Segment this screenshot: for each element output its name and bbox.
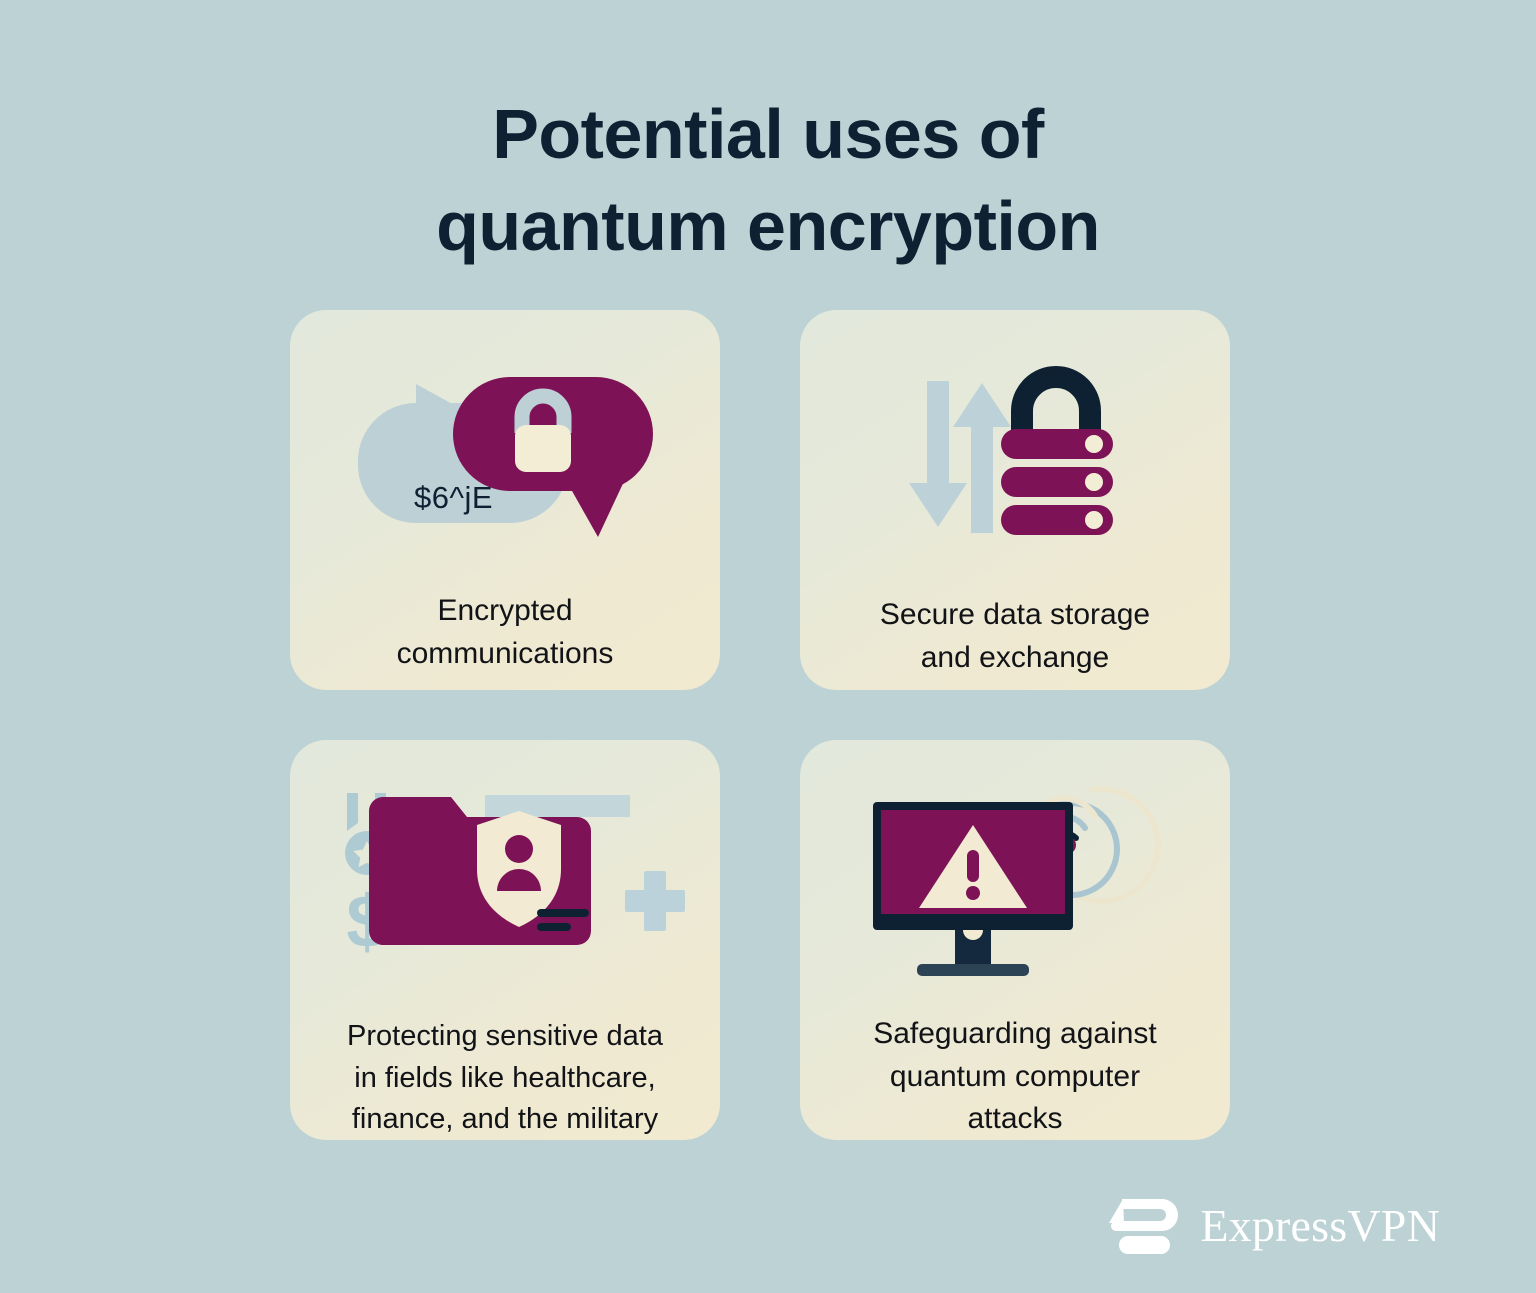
data-transfer-arrows-icon: [906, 381, 1011, 533]
card-safeguarding-against-attacks: Safeguarding against quantum computer at…: [800, 740, 1230, 1140]
monitor-warning-icon: [800, 780, 1230, 985]
page-title-line-1: Potential uses of: [0, 88, 1536, 180]
card-label-line-2: quantum computer: [814, 1056, 1216, 1099]
card-label-safeguarding-against-attacks: Safeguarding against quantum computer at…: [800, 1013, 1230, 1140]
padlock-shackle: [1022, 377, 1090, 431]
speech-bubble-lock-svg: [340, 355, 670, 570]
card-label-line-1: Encrypted: [304, 590, 706, 633]
padlock-server-svg: [865, 355, 1165, 570]
expressvpn-wordmark: ExpressVPN: [1200, 1203, 1440, 1249]
folder-shield-svg: $: [325, 787, 685, 982]
card-label-secure-data-storage: Secure data storage and exchange: [800, 594, 1230, 679]
card-label-line-2: in fields like healthcare,: [304, 1058, 706, 1099]
card-protecting-sensitive-data: $: [290, 740, 720, 1140]
card-label-line-1: Protecting sensitive data: [304, 1016, 706, 1057]
card-label-line-2: and exchange: [814, 637, 1216, 680]
expressvpn-e-icon: [1106, 1195, 1184, 1257]
monitor-base: [917, 964, 1029, 976]
card-label-encrypted-communications: Encrypted communications: [290, 590, 720, 675]
expressvpn-logo[interactable]: ExpressVPN: [1106, 1195, 1440, 1257]
server-bars: [1001, 429, 1113, 535]
medical-cross-icon: [625, 871, 685, 931]
page-title: Potential uses of quantum encryption: [0, 88, 1536, 273]
card-label-line-3: finance, and the military: [304, 1099, 706, 1140]
card-label-protecting-sensitive-data: Protecting sensitive data in fields like…: [290, 1016, 720, 1140]
card-label-line-1: Secure data storage: [814, 594, 1216, 637]
document-sheet: [485, 795, 630, 817]
card-label-line-1: Safeguarding against: [814, 1013, 1216, 1056]
card-label-line-3: attacks: [814, 1098, 1216, 1140]
card-secure-data-storage: Secure data storage and exchange: [800, 310, 1230, 690]
padlock-server-icon: [800, 352, 1230, 572]
page-title-line-2: quantum encryption: [0, 180, 1536, 272]
card-encrypted-communications: $6^jE Encrypted communications: [290, 310, 720, 690]
monitor-warning-svg: [855, 780, 1175, 985]
folder-shield-icon: $: [290, 786, 720, 982]
card-label-line-2: communications: [304, 633, 706, 676]
speech-bubble-lock-icon: $6^jE: [290, 352, 720, 572]
infographic-root: Potential uses of quantum encryption: [0, 0, 1536, 1293]
card-grid: $6^jE Encrypted communications: [290, 310, 1230, 1140]
